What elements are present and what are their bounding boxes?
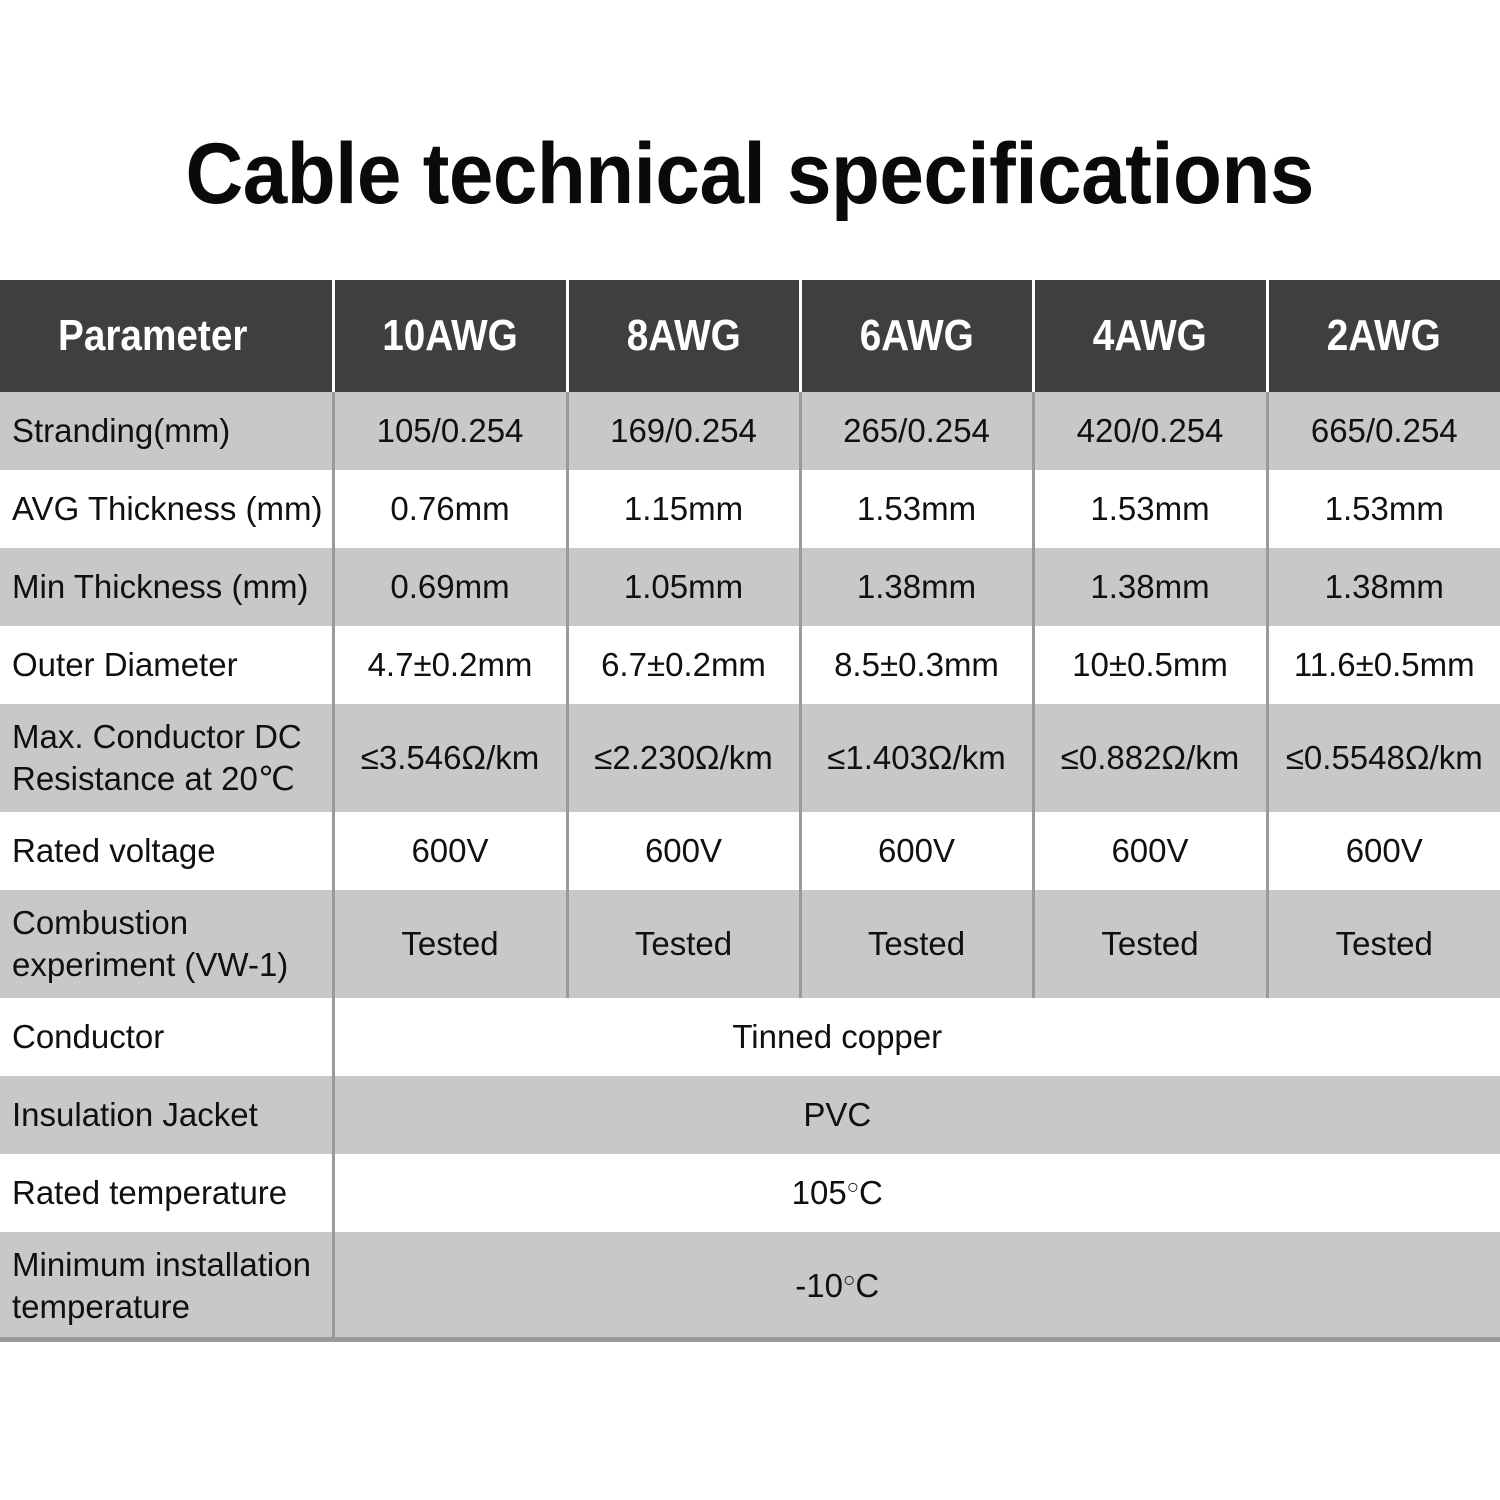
degree-icon: ○ <box>847 1175 859 1198</box>
degree-icon: ○ <box>843 1268 855 1291</box>
row-label: Min Thickness (mm) <box>0 548 333 626</box>
merged-cell-text: Tinned copper <box>732 1016 942 1058</box>
row-label: Rated temperature <box>0 1154 333 1232</box>
cell-value: 600V <box>800 812 1033 890</box>
row-label: Outer Diameter <box>0 626 333 704</box>
page-title: Cable technical specifications <box>186 126 1314 222</box>
cell-value: 10±0.5mm <box>1033 626 1267 704</box>
table-row: Max. Conductor DC Resistance at 20℃ ≤3.5… <box>0 704 1500 812</box>
cell-value: Tested <box>1267 890 1500 998</box>
table-row: Rated voltage 600V 600V 600V 600V 600V <box>0 812 1500 890</box>
merged-cell-text: -10○C <box>795 1265 879 1307</box>
column-header-8awg: 8AWG <box>567 280 800 392</box>
cell-value: 1.05mm <box>567 548 800 626</box>
table-header-row: Parameter 10AWG 8AWG 6AWG 4AWG 2AWG <box>0 280 1500 392</box>
cell-value: Tested <box>333 890 567 998</box>
column-header-4awg: 4AWG <box>1033 280 1267 392</box>
cell-value: 600V <box>1267 812 1500 890</box>
cable-specifications-table: Parameter 10AWG 8AWG 6AWG 4AWG 2AWG Stra… <box>0 280 1500 1340</box>
cell-value: Tested <box>1033 890 1267 998</box>
cell-value: 6.7±0.2mm <box>567 626 800 704</box>
cell-value: 8.5±0.3mm <box>800 626 1033 704</box>
merged-cell-value: Tinned copper <box>333 998 1500 1076</box>
cell-value: 1.53mm <box>1267 470 1500 548</box>
row-label-line1: Minimum installation <box>12 1244 324 1286</box>
row-label: Stranding(mm) <box>0 392 333 470</box>
row-label-line1: Combustion <box>12 902 324 944</box>
table-row: Min Thickness (mm) 0.69mm 1.05mm 1.38mm … <box>0 548 1500 626</box>
cell-value: 1.15mm <box>567 470 800 548</box>
cell-value: 420/0.254 <box>1033 392 1267 470</box>
column-header-parameter: Parameter <box>0 280 333 392</box>
row-label: Rated voltage <box>0 812 333 890</box>
column-header-6awg: 6AWG <box>800 280 1033 392</box>
cell-value: ≤1.403Ω/km <box>800 704 1033 812</box>
table-row: Stranding(mm) 105/0.254 169/0.254 265/0.… <box>0 392 1500 470</box>
merged-cell-value: PVC <box>333 1076 1500 1154</box>
table-body: Stranding(mm) 105/0.254 169/0.254 265/0.… <box>0 392 1500 1340</box>
table-row: Rated temperature 105○C <box>0 1154 1500 1232</box>
cell-value: Tested <box>567 890 800 998</box>
cell-value: ≤2.230Ω/km <box>567 704 800 812</box>
table-row: Minimum installation temperature -10○C <box>0 1232 1500 1340</box>
table-row: Insulation Jacket PVC <box>0 1076 1500 1154</box>
row-label: Minimum installation temperature <box>0 1232 333 1340</box>
cell-value: Tested <box>800 890 1033 998</box>
row-label: AVG Thickness (mm) <box>0 470 333 548</box>
cell-value: 600V <box>333 812 567 890</box>
cell-value: 600V <box>1033 812 1267 890</box>
cell-value: 1.38mm <box>1033 548 1267 626</box>
row-label-line2: experiment (VW-1) <box>12 944 324 986</box>
cell-value: 4.7±0.2mm <box>333 626 567 704</box>
spec-sheet-page: Cable technical specifications Parameter… <box>0 0 1500 1500</box>
merged-cell-text: 105○C <box>792 1172 883 1214</box>
cell-value: 11.6±0.5mm <box>1267 626 1500 704</box>
table-bottom-border <box>0 1337 1500 1342</box>
table-row: Conductor Tinned copper <box>0 998 1500 1076</box>
cell-value: 1.38mm <box>800 548 1033 626</box>
cell-value: 169/0.254 <box>567 392 800 470</box>
table-row: Outer Diameter 4.7±0.2mm 6.7±0.2mm 8.5±0… <box>0 626 1500 704</box>
cell-value: 105/0.254 <box>333 392 567 470</box>
row-label-line2: Resistance at 20℃ <box>12 758 324 800</box>
cell-value: 0.76mm <box>333 470 567 548</box>
column-header-10awg: 10AWG <box>333 280 567 392</box>
row-label-line2: temperature <box>12 1286 324 1328</box>
cell-value: 600V <box>567 812 800 890</box>
merged-cell-text: PVC <box>803 1094 871 1136</box>
row-label: Insulation Jacket <box>0 1076 333 1154</box>
cell-value: ≤0.882Ω/km <box>1033 704 1267 812</box>
temperature-unit: C <box>859 1174 883 1211</box>
cell-value: 1.53mm <box>800 470 1033 548</box>
page-title-wrap: Cable technical specifications <box>0 126 1500 222</box>
temperature-number: 105 <box>792 1174 847 1211</box>
temperature-number: -10 <box>795 1267 843 1304</box>
cell-value: 0.69mm <box>333 548 567 626</box>
cell-value: ≤3.546Ω/km <box>333 704 567 812</box>
cell-value: 265/0.254 <box>800 392 1033 470</box>
cell-value: 665/0.254 <box>1267 392 1500 470</box>
row-label: Conductor <box>0 998 333 1076</box>
merged-cell-value: 105○C <box>333 1154 1500 1232</box>
row-label-line1: Max. Conductor DC <box>12 716 324 758</box>
temperature-unit: C <box>855 1267 879 1304</box>
row-label: Max. Conductor DC Resistance at 20℃ <box>0 704 333 812</box>
cell-value: ≤0.5548Ω/km <box>1267 704 1500 812</box>
column-header-2awg: 2AWG <box>1267 280 1500 392</box>
merged-cell-value: -10○C <box>333 1232 1500 1340</box>
row-label: Combustion experiment (VW-1) <box>0 890 333 998</box>
cell-value: 1.38mm <box>1267 548 1500 626</box>
table-row: Combustion experiment (VW-1) Tested Test… <box>0 890 1500 998</box>
table-row: AVG Thickness (mm) 0.76mm 1.15mm 1.53mm … <box>0 470 1500 548</box>
cell-value: 1.53mm <box>1033 470 1267 548</box>
